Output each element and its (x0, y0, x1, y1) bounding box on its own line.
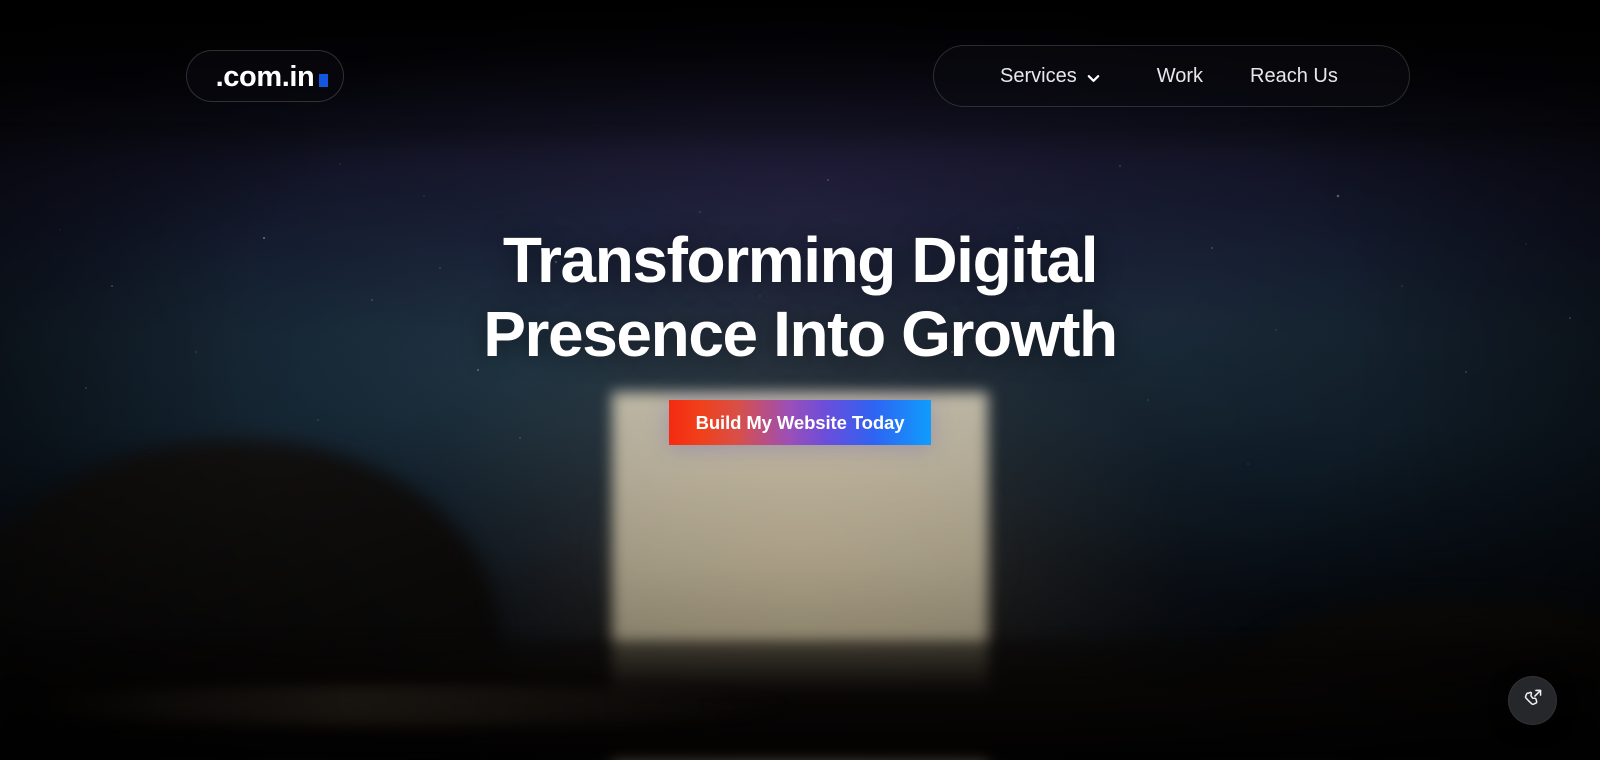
page-root: .com.in Services Work Reach Us Tr (0, 0, 1600, 760)
nav-item-work[interactable]: Work (1157, 65, 1203, 88)
site-header: .com.in Services Work Reach Us (0, 0, 1600, 152)
primary-navigation: Services Work Reach Us (933, 45, 1410, 107)
nav-item-services[interactable]: Services (1000, 65, 1101, 88)
hero-headline: Transforming Digital Presence Into Growt… (483, 228, 1116, 366)
brand-accent-square (319, 74, 328, 87)
brand-logo-text: .com.in (216, 63, 315, 92)
floating-call-button[interactable] (1508, 676, 1557, 725)
nav-item-reach-us-label: Reach Us (1250, 65, 1338, 88)
chevron-down-icon (1086, 71, 1101, 86)
phone-outgoing-icon (1521, 687, 1544, 715)
nav-item-work-label: Work (1157, 65, 1203, 88)
hero-headline-line1: Transforming Digital (503, 224, 1097, 296)
hero-headline-line2: Presence Into Growth (483, 302, 1116, 366)
nav-item-reach-us[interactable]: Reach Us (1250, 65, 1338, 88)
nav-item-services-label: Services (1000, 65, 1077, 88)
build-my-website-button[interactable]: Build My Website Today (669, 400, 931, 445)
brand-logo[interactable]: .com.in (186, 50, 344, 102)
